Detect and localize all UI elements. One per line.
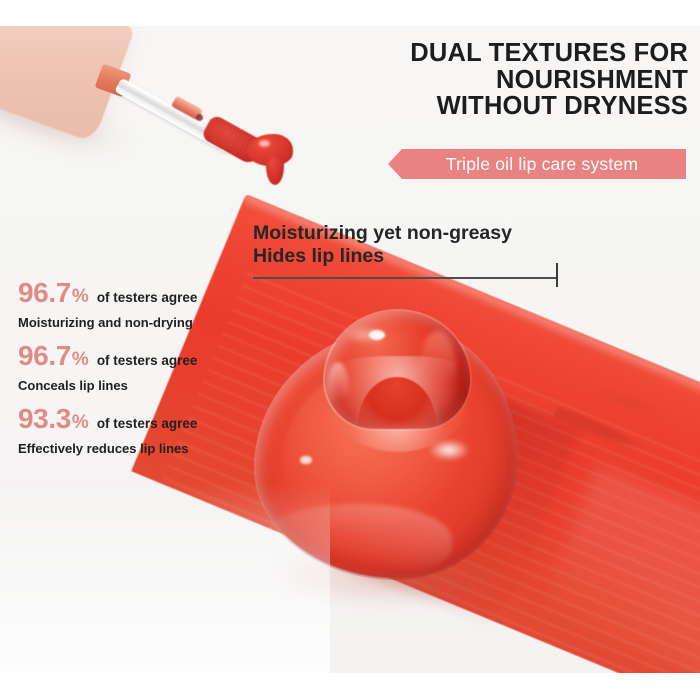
stat-agree-label: of testers agree bbox=[97, 416, 198, 431]
headline-line-1: DUAL TEXTURES FOR bbox=[330, 40, 688, 67]
statistics-block: 96.7 % of testers agree Moisturizing and… bbox=[18, 278, 248, 467]
product-ad-image: DUAL TEXTURES FOR NOURISHMENT WITHOUT DR… bbox=[0, 0, 700, 700]
stat-percent-sign: % bbox=[72, 408, 89, 438]
stat-item: 93.3 % of testers agree Effectively redu… bbox=[18, 404, 248, 456]
headline-line-3: WITHOUT DRYNESS bbox=[330, 93, 688, 120]
divider-end-tick bbox=[556, 263, 558, 287]
stat-agree-label: of testers agree bbox=[97, 290, 198, 305]
stat-percent-value: 96.7 bbox=[18, 341, 71, 371]
stat-description: Conceals lip lines bbox=[18, 378, 248, 393]
stat-description: Moisturizing and non-drying bbox=[18, 315, 248, 330]
ribbon-banner: Triple oil lip care system bbox=[388, 149, 686, 179]
stat-headline: 96.7 % of testers agree bbox=[18, 278, 248, 312]
stat-agree-label: of testers agree bbox=[97, 353, 198, 368]
headline-line-2: NOURISHMENT bbox=[330, 67, 688, 94]
subheadline-line-1: Moisturizing yet non-greasy bbox=[253, 222, 583, 245]
subheadline-line-2: Hides lip lines bbox=[253, 245, 583, 268]
stat-description: Effectively reduces lip lines bbox=[18, 441, 248, 456]
headline: DUAL TEXTURES FOR NOURISHMENT WITHOUT DR… bbox=[330, 40, 688, 120]
stat-headline: 96.7 % of testers agree bbox=[18, 341, 248, 375]
ribbon-label: Triple oil lip care system bbox=[436, 154, 638, 175]
stat-item: 96.7 % of testers agree Conceals lip lin… bbox=[18, 341, 248, 393]
content-band: DUAL TEXTURES FOR NOURISHMENT WITHOUT DR… bbox=[0, 26, 700, 673]
stat-percent-sign: % bbox=[72, 282, 89, 312]
stat-percent-value: 93.3 bbox=[18, 404, 71, 434]
stat-percent-value: 96.7 bbox=[18, 278, 71, 308]
stat-percent-sign: % bbox=[72, 345, 89, 375]
stat-item: 96.7 % of testers agree Moisturizing and… bbox=[18, 278, 248, 330]
divider-rule bbox=[253, 277, 558, 279]
stat-headline: 93.3 % of testers agree bbox=[18, 404, 248, 438]
subheadline: Moisturizing yet non-greasy Hides lip li… bbox=[253, 222, 583, 268]
text-overlay: DUAL TEXTURES FOR NOURISHMENT WITHOUT DR… bbox=[0, 26, 700, 673]
